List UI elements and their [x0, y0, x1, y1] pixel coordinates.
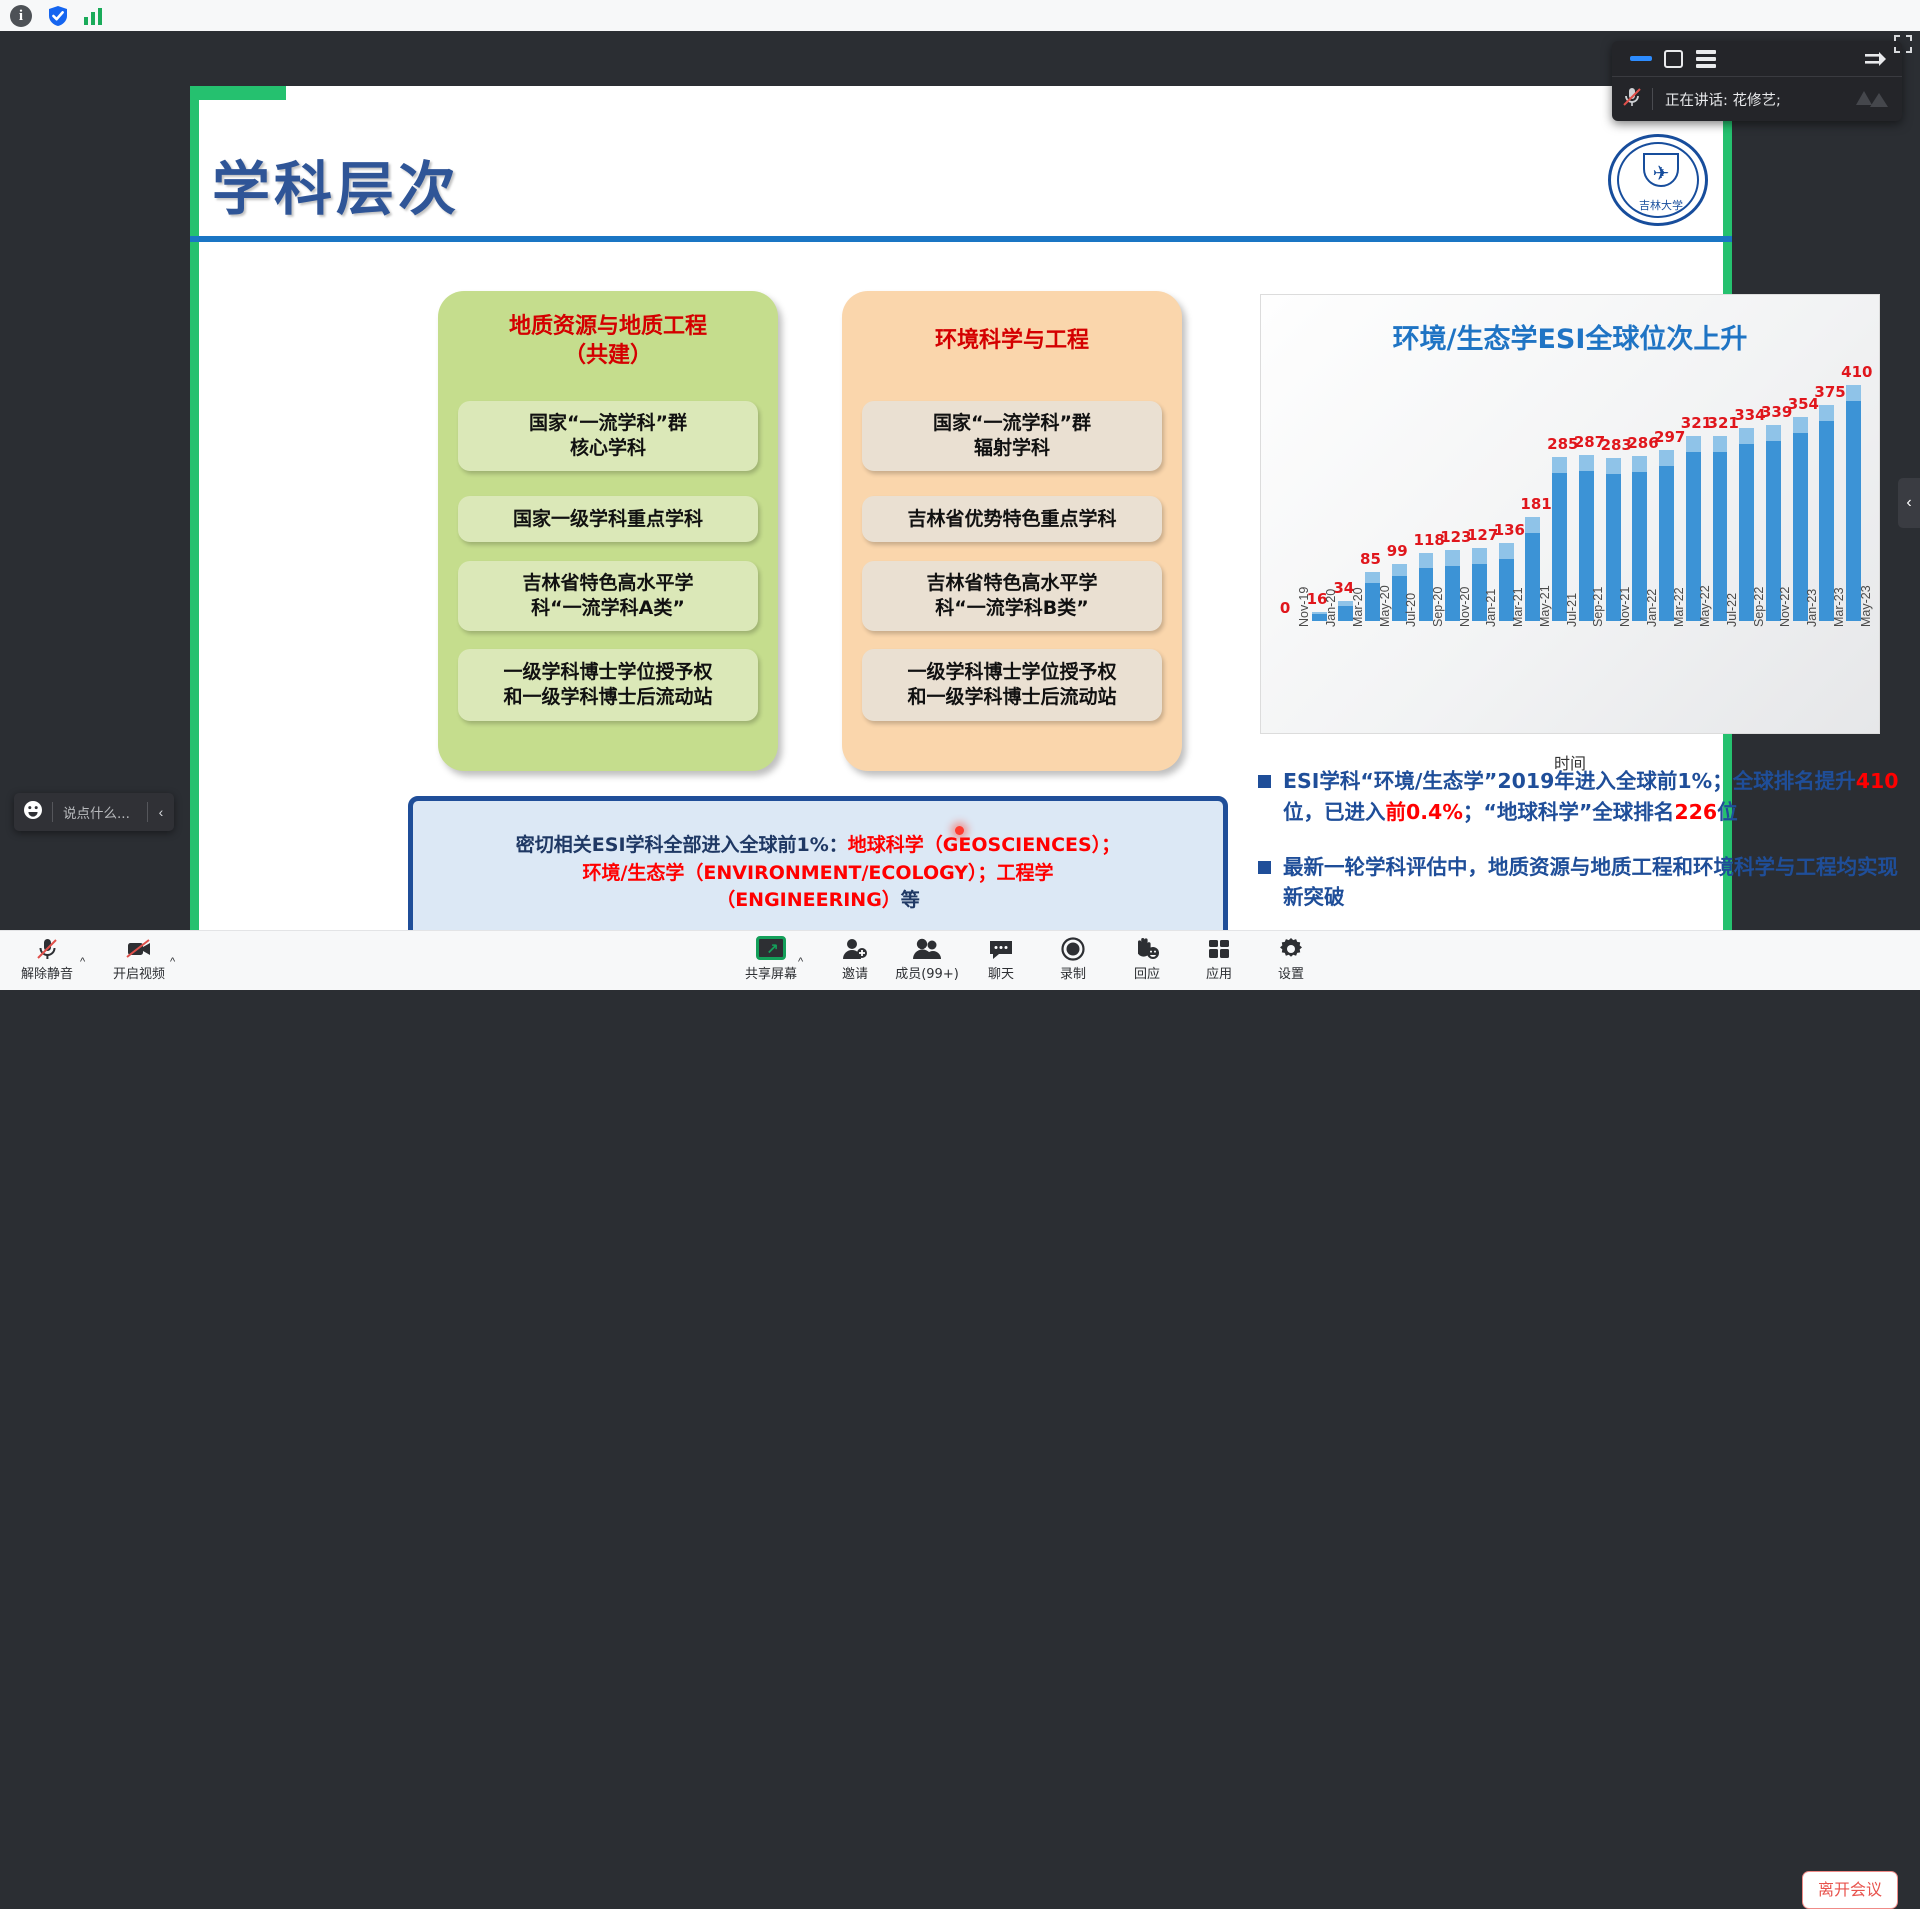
- card-item-text: 吉林省特色高水平学 科“一流学科B类”: [926, 571, 1097, 620]
- bar-cap: [1632, 456, 1647, 472]
- summary-line1-highlight: 地球科学（GEOSCIENCES）；: [848, 834, 1120, 856]
- shared-slide: 学科层次 ✈ 吉林大学 地质资源与地质工程 （共建） 国家“一流学科”群 核心学…: [190, 86, 1732, 946]
- fullscreen-corner-icon[interactable]: [1894, 35, 1912, 53]
- chart-xtick-label: Jul-22: [1725, 593, 1739, 627]
- chart-xtick-label: Jan-20: [1324, 589, 1338, 627]
- unmute-options-caret-icon[interactable]: ^: [80, 956, 85, 968]
- bar-value-label: 85: [1360, 550, 1381, 568]
- bar-cap: [1819, 405, 1834, 421]
- laser-pointer-dot: [955, 826, 964, 835]
- card-heading-line1: 环境科学与工程: [842, 327, 1182, 356]
- card-item: 吉林省优势特色重点学科: [862, 496, 1162, 542]
- speaker-name: 花修艺;: [1733, 93, 1781, 109]
- chart-xtick-label: Sep-20: [1431, 587, 1445, 627]
- quick-chat-bar[interactable]: 说点什么... ‹: [14, 793, 174, 831]
- bar-cap: [1445, 550, 1460, 566]
- browser-top-strip: i: [0, 0, 1920, 31]
- card-item: 国家“一流学科”群 核心学科: [458, 401, 758, 471]
- summary-line1-prefix: 密切相关ESI学科全部进入全球前1%：: [516, 834, 848, 856]
- gear-icon: [1248, 936, 1334, 962]
- chart-xtick-label: May-21: [1538, 585, 1552, 627]
- bar-cap: [1739, 428, 1754, 444]
- card-heading: 环境科学与工程: [842, 327, 1182, 356]
- bar-cap: [1766, 425, 1781, 441]
- chart-xtick-label: Nov-22: [1778, 587, 1792, 627]
- bar-value-label: 181: [1520, 495, 1551, 513]
- chart-xtick-label: May-20: [1378, 585, 1392, 627]
- chart-xtick-label: Sep-22: [1752, 587, 1766, 627]
- card-item-text: 一级学科博士学位授予权 和一级学科博士后流动站: [503, 660, 712, 709]
- collapse-right-icon[interactable]: [1864, 50, 1888, 68]
- panel-collapse-handle[interactable]: ‹: [1898, 478, 1920, 528]
- summary-line-2: 环境/生态学（ENVIRONMENT/ECOLOGY）；工程学: [427, 860, 1209, 888]
- bar-value-label: 375: [1814, 383, 1845, 401]
- slide-accent-bar: [190, 86, 286, 100]
- leave-meeting-button[interactable]: 离开会议: [1802, 1871, 1898, 1909]
- seal-text: 吉林大学: [1611, 197, 1708, 213]
- bullet-square-icon: [1258, 861, 1271, 874]
- chevron-left-icon[interactable]: ‹: [148, 804, 174, 820]
- slide-bullet-list: ESI学科“环境/生态学”2019年进入全球前1%；全球排名提升410位，已进入…: [1258, 766, 1908, 937]
- card-item-text: 吉林省优势特色重点学科: [907, 507, 1116, 532]
- chart-xtick-label: May-22: [1698, 585, 1712, 627]
- avatar: [1848, 85, 1894, 115]
- card-item: 一级学科博士学位授予权 和一级学科博士后流动站: [458, 649, 758, 721]
- microphone-muted-icon: [4, 936, 90, 962]
- bar-cap: [1793, 417, 1808, 433]
- shield-check-icon[interactable]: [47, 5, 69, 27]
- bullet-square-icon: [1258, 775, 1271, 788]
- bar-cap: [1499, 543, 1514, 559]
- card-heading-line1: 地质资源与地质工程: [438, 313, 778, 342]
- info-icon[interactable]: i: [10, 5, 32, 27]
- microphone-muted-icon: [1612, 86, 1652, 113]
- emoji-icon[interactable]: [14, 800, 52, 825]
- card-item: 一级学科博士学位授予权 和一级学科博士后流动站: [862, 649, 1162, 721]
- summary-line3-suffix: 等: [901, 889, 920, 911]
- meeting-stage: 学科层次 ✈ 吉林大学 地质资源与地质工程 （共建） 国家“一流学科”群 核心学…: [0, 31, 1920, 956]
- chart-xtick-label: Jan-21: [1484, 589, 1498, 627]
- esi-summary-box: 密切相关ESI学科全部进入全球前1%：地球科学（GEOSCIENCES）； 环境…: [408, 796, 1228, 951]
- university-seal-logo: ✈ 吉林大学: [1608, 134, 1708, 226]
- card-item: 吉林省特色高水平学 科“一流学科A类”: [458, 561, 758, 631]
- restore-window-icon[interactable]: [1664, 50, 1683, 68]
- signal-bars-icon[interactable]: [82, 5, 104, 27]
- card-item-text: 吉林省特色高水平学 科“一流学科A类”: [522, 571, 693, 620]
- card-item-text: 国家一级学科重点学科: [513, 507, 703, 532]
- bar-cap: [1419, 553, 1434, 568]
- list-view-icon[interactable]: [1696, 50, 1716, 68]
- card-item: 国家“一流学科”群 辐射学科: [862, 401, 1162, 471]
- chart-xtick-label: Mar-21: [1511, 587, 1525, 627]
- toolbar-label: 设置: [1248, 963, 1334, 982]
- quick-chat-input[interactable]: 说点什么...: [53, 802, 147, 822]
- chart-xtick-label: Mar-20: [1351, 587, 1365, 627]
- chart-xtick-label: Jan-23: [1805, 589, 1819, 627]
- chart-xtick-label: Mar-23: [1832, 587, 1846, 627]
- slide-title: 学科层次: [212, 142, 460, 226]
- chart-xtick-label: May-23: [1859, 585, 1873, 627]
- chart-xtick-label: Nov-20: [1458, 587, 1472, 627]
- bar-cap: [1606, 458, 1621, 474]
- card-item: 国家一级学科重点学科: [458, 496, 758, 542]
- toolbar-unmute-button[interactable]: 解除静音: [4, 936, 90, 982]
- bar-value-label: 99: [1387, 542, 1408, 560]
- summary-line-3: （ENGINEERING）等: [427, 887, 1209, 915]
- card-item-text: 国家“一流学科”群 辐射学科: [933, 411, 1091, 460]
- video-options-caret-icon[interactable]: ^: [170, 956, 175, 968]
- meeting-toolbar: 解除静音 ^ 开启视频 ^ ↗ 共享屏幕 ^ 邀请 成员(99+) 聊天: [0, 930, 1920, 990]
- card-heading: 地质资源与地质工程 （共建）: [438, 313, 778, 370]
- seal-bird-icon: ✈: [1635, 165, 1687, 183]
- bar-cap: [1579, 455, 1594, 471]
- esi-ranking-chart: 环境/生态学ESI全球位次上升 016348599118123127136181…: [1260, 294, 1880, 734]
- bar-cap: [1846, 385, 1861, 401]
- share-options-caret-icon[interactable]: ^: [798, 956, 803, 968]
- active-speaker-panel[interactable]: 正在讲话: 花修艺;: [1612, 41, 1902, 121]
- chart-plot-area: 0163485991181231271361812852872832862973…: [1279, 373, 1867, 621]
- speaking-label: 正在讲话:: [1665, 93, 1728, 109]
- bar-cap: [1713, 436, 1728, 452]
- chart-xtick-label: Jul-20: [1404, 593, 1418, 627]
- summary-line-1: 密切相关ESI学科全部进入全球前1%：地球科学（GEOSCIENCES）；: [427, 832, 1209, 860]
- toolbar-settings-button[interactable]: 设置: [1248, 936, 1334, 982]
- card-item-text: 国家“一流学科”群 核心学科: [529, 411, 687, 460]
- card-heading-line2: （共建）: [438, 342, 778, 371]
- bullet-item: 最新一轮学科评估中，地质资源与地质工程和环境科学与工程均实现新突破: [1258, 852, 1908, 914]
- chart-xtick-label: Nov-19: [1297, 587, 1311, 627]
- summary-line3-eng: （ENGINEERING）: [716, 889, 901, 911]
- slide-border-left: [190, 86, 199, 946]
- chart-xtick-label: Jan-22: [1645, 589, 1659, 627]
- video-panel-body: 正在讲话: 花修艺;: [1612, 77, 1902, 121]
- chart-xtick-label: Mar-22: [1672, 587, 1686, 627]
- bar-value-label: 0: [1280, 599, 1290, 617]
- bullet-text: 最新一轮学科评估中，地质资源与地质工程和环境科学与工程均实现新突破: [1283, 852, 1908, 914]
- chart-xtick-label: Sep-21: [1591, 587, 1605, 627]
- bar-value-label: 136: [1494, 521, 1525, 539]
- chart-xtick-label: Jul-21: [1565, 593, 1579, 627]
- bar-value-label: 410: [1841, 363, 1872, 381]
- card-item-text: 一级学科博士学位授予权 和一级学科博士后流动站: [907, 660, 1116, 709]
- bar-cap: [1552, 457, 1567, 473]
- bar-cap: [1659, 450, 1674, 466]
- title-underline-rule: [190, 236, 1732, 242]
- card-item: 吉林省特色高水平学 科“一流学科B类”: [862, 561, 1162, 631]
- bar-cap: [1472, 548, 1487, 564]
- bullet-text: ESI学科“环境/生态学”2019年进入全球前1%；全球排名提升410位，已进入…: [1283, 766, 1908, 828]
- bar-cap: [1686, 436, 1701, 452]
- toolbar-label: 解除静音: [4, 963, 90, 982]
- bar-cap: [1392, 564, 1407, 577]
- chart-xtick-label: Nov-21: [1618, 587, 1632, 627]
- discipline-card-environment: 环境科学与工程 国家“一流学科”群 辐射学科 吉林省优势特色重点学科 吉林省特色…: [842, 291, 1182, 771]
- bullet-item: ESI学科“环境/生态学”2019年进入全球前1%；全球排名提升410位，已进入…: [1258, 766, 1908, 828]
- video-panel-titlebar: [1612, 41, 1902, 77]
- discipline-card-geology: 地质资源与地质工程 （共建） 国家“一流学科”群 核心学科 国家一级学科重点学科…: [438, 291, 778, 771]
- minimize-icon[interactable]: [1630, 56, 1652, 61]
- bar-cap: [1365, 572, 1380, 583]
- bar-cap: [1525, 517, 1540, 533]
- chart-title: 环境/生态学ESI全球位次上升: [1261, 317, 1879, 356]
